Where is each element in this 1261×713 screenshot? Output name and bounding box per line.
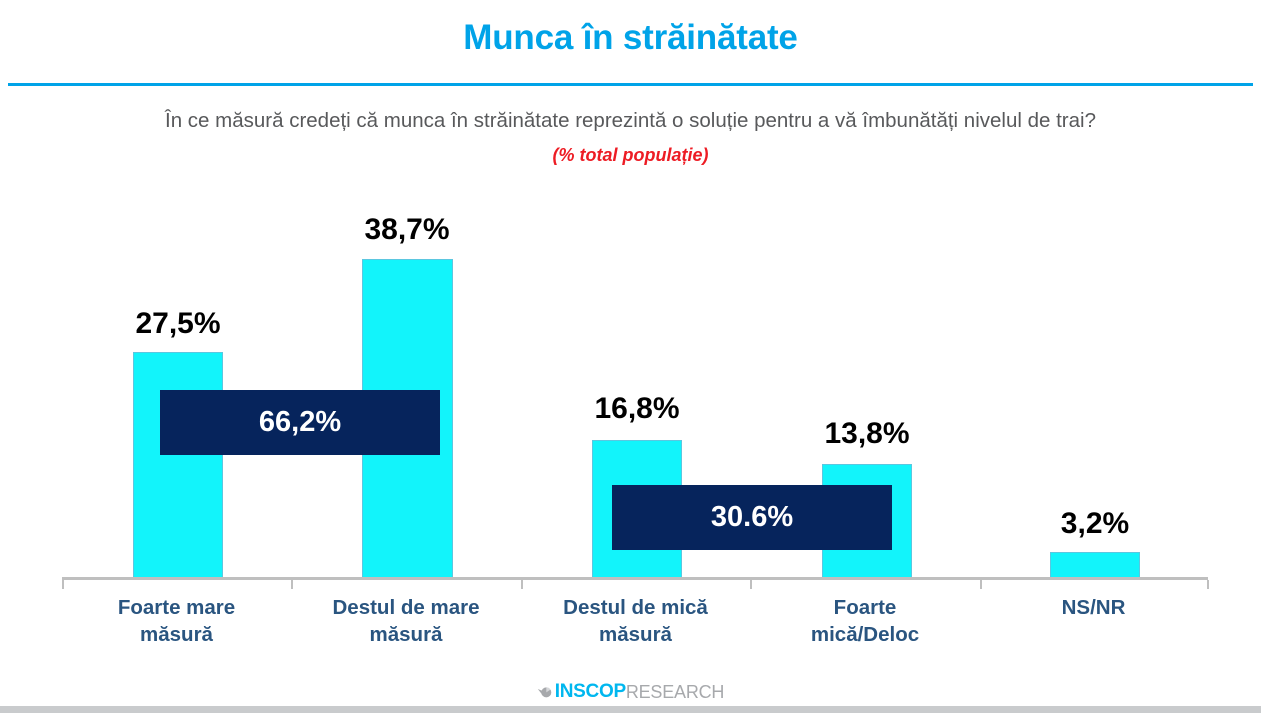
bar-value-label: 13,8% [797,417,937,451]
group-callout-box[interactable]: 66,2% [160,390,440,455]
bar-ns-nr[interactable] [1050,552,1140,578]
x-axis-label-foarte-mare-masura: Foarte mare măsură [62,594,291,648]
bar-value-label: 16,8% [567,392,707,426]
x-axis-label-destul-de-mica-masura: Destul de mică măsură [521,594,750,648]
logo-research-text: RESEARCH [626,682,724,703]
x-axis-label-destul-de-mare-masura: Destul de mare măsură [291,594,521,648]
x-axis-label-line: Destul de mică [521,594,750,621]
axis-tick [980,580,982,589]
bar-chart: 27,5% 38,7% 16,8% 13,8% 3,2% 66,2% 30.6%… [0,0,1261,680]
group-callout-box[interactable]: 30.6% [612,485,892,550]
x-axis-label-line: Destul de mare [291,594,521,621]
logo-inscop-text: INSCOP [555,681,626,703]
x-axis-label-line: măsură [291,621,521,648]
group-callout-label: 66,2% [259,406,341,439]
axis-tick [750,580,752,589]
x-axis-label-ns-nr: NS/NR [980,594,1207,621]
bar-foarte-mare-masura[interactable] [133,352,223,578]
x-axis-label-line: Foarte [750,594,980,621]
x-axis-label-foarte-mica-deloc: Foarte mică/Deloc [750,594,980,648]
axis-tick [62,580,64,589]
axis-tick [521,580,523,589]
bar-value-label: 3,2% [1025,507,1165,541]
x-axis-label-line: măsură [62,621,291,648]
footer-bar [0,706,1261,713]
x-axis-label-line: NS/NR [980,594,1207,621]
x-axis-line [62,577,1208,580]
x-axis-label-line: măsură [521,621,750,648]
bar-value-label: 38,7% [337,213,477,247]
axis-tick [1207,580,1209,589]
group-callout-label: 30.6% [711,501,793,534]
axis-tick [291,580,293,589]
inscop-logo: INSCOP RESEARCH [0,681,1261,703]
x-axis-label-line: Foarte mare [62,594,291,621]
droplet-icon [537,684,553,700]
bar-value-label: 27,5% [108,307,248,341]
x-axis-label-line: mică/Deloc [750,621,980,648]
